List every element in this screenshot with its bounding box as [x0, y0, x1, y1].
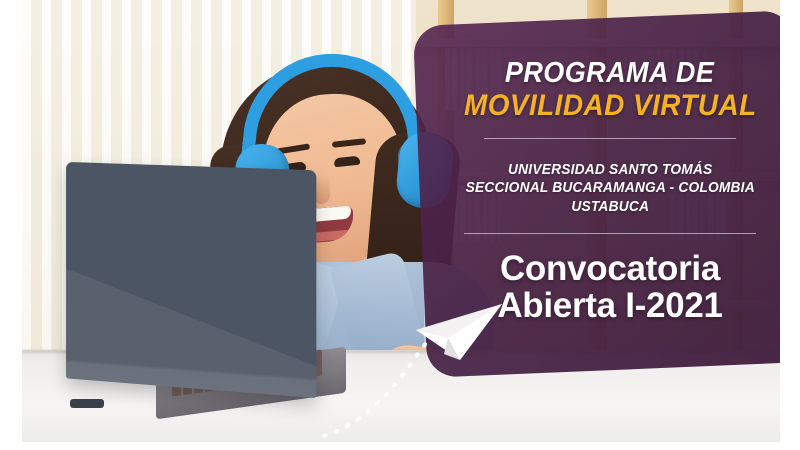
paper-plane-icon — [414, 300, 506, 372]
institution-line-2: SECCIONAL BUCARAMANGA - COLOMBIA — [465, 179, 754, 198]
institution-line-1: UNIVERSIDAD SANTO TOMÁS — [465, 161, 754, 180]
laptop-foot — [70, 399, 104, 408]
program-title-line2: MOVILIDAD VIRTUAL — [464, 90, 757, 122]
laptop — [48, 166, 348, 416]
call-title: Convocatoria Abierta I-2021 — [497, 250, 722, 324]
program-title-line1: PROGRAMA DE — [505, 58, 714, 88]
promo-banner: PROGRAMA DE MOVILIDAD VIRTUAL UNIVERSIDA… — [0, 0, 800, 450]
divider-bottom — [464, 233, 756, 234]
divider-top — [484, 138, 736, 139]
institution-line-3: USTABUCA — [465, 198, 754, 217]
call-title-line1: Convocatoria — [497, 250, 722, 287]
photo-background: PROGRAMA DE MOVILIDAD VIRTUAL UNIVERSIDA… — [22, 0, 780, 442]
laptop-lid — [66, 162, 316, 398]
laptop-lid-sheen — [66, 193, 316, 398]
institution-block: UNIVERSIDAD SANTO TOMÁS SECCIONAL BUCARA… — [465, 161, 754, 217]
call-title-line2: Abierta I-2021 — [497, 287, 722, 324]
